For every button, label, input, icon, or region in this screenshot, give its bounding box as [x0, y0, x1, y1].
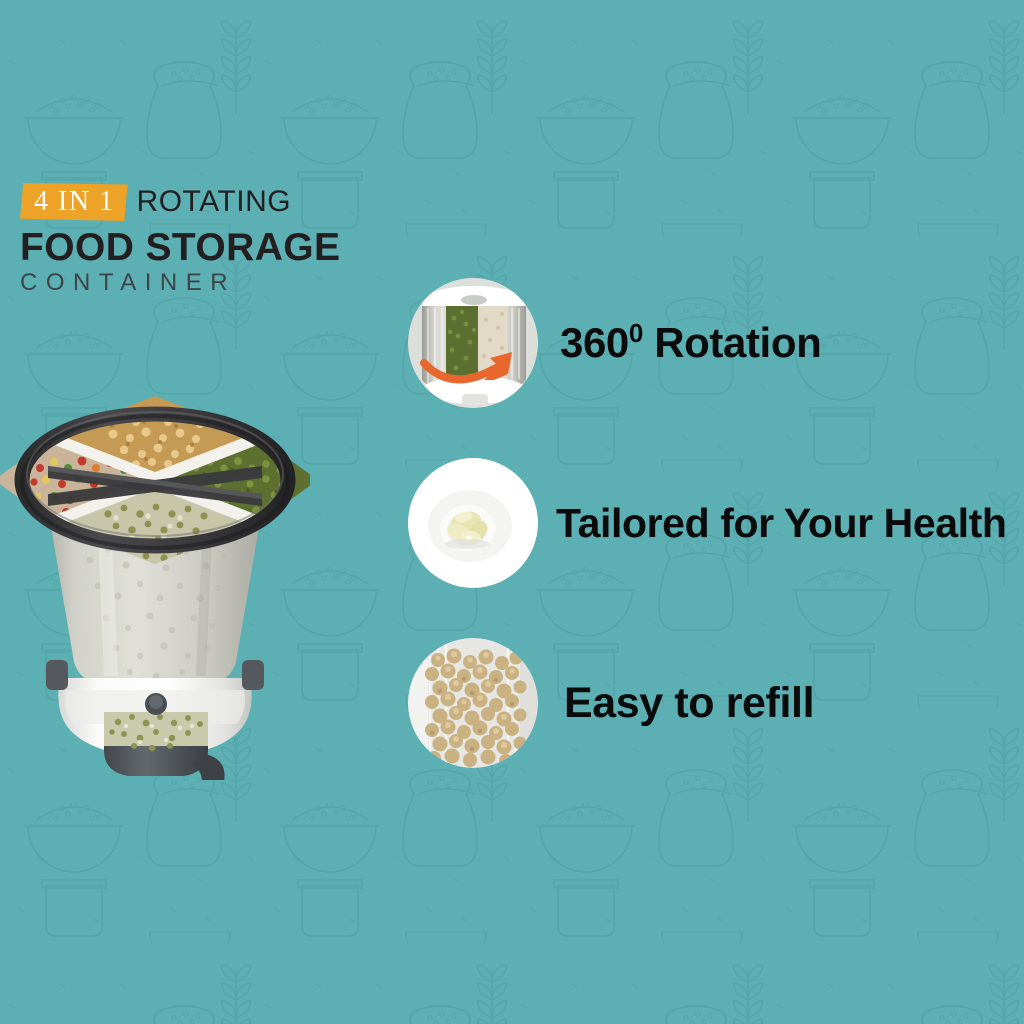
headline-line-3: CONTAINER	[20, 271, 440, 295]
four-in-one-badge: 4 IN 1	[20, 183, 128, 221]
headline-line-1: 4 IN 1 ROTATING	[20, 182, 440, 222]
product-marketing-image: 4 IN 1 ROTATING FOOD STORAGE CONTAINER	[0, 0, 1024, 1024]
feature-row-rotation: 3600 Rotation	[408, 278, 821, 408]
feature-label-refill: Easy to refill	[564, 682, 814, 725]
feature-row-health: Tailored for Your Health	[408, 458, 1007, 588]
rotating-word: ROTATING	[137, 187, 292, 217]
headline-block: 4 IN 1 ROTATING FOOD STORAGE CONTAINER	[20, 182, 440, 295]
health-thumbnail	[408, 458, 538, 588]
refill-thumbnail	[408, 638, 538, 768]
headline-line-2: FOOD STORAGE	[20, 228, 440, 268]
rotation-thumbnail	[408, 278, 538, 408]
product-image	[0, 360, 310, 780]
rotation-number: 360	[560, 319, 629, 366]
rotation-word: Rotation	[643, 319, 821, 366]
feature-label-rotation: 3600 Rotation	[560, 322, 821, 364]
feature-label-health: Tailored for Your Health	[556, 503, 1007, 544]
feature-row-refill: Easy to refill	[408, 638, 814, 768]
degree-symbol: 0	[629, 318, 643, 348]
